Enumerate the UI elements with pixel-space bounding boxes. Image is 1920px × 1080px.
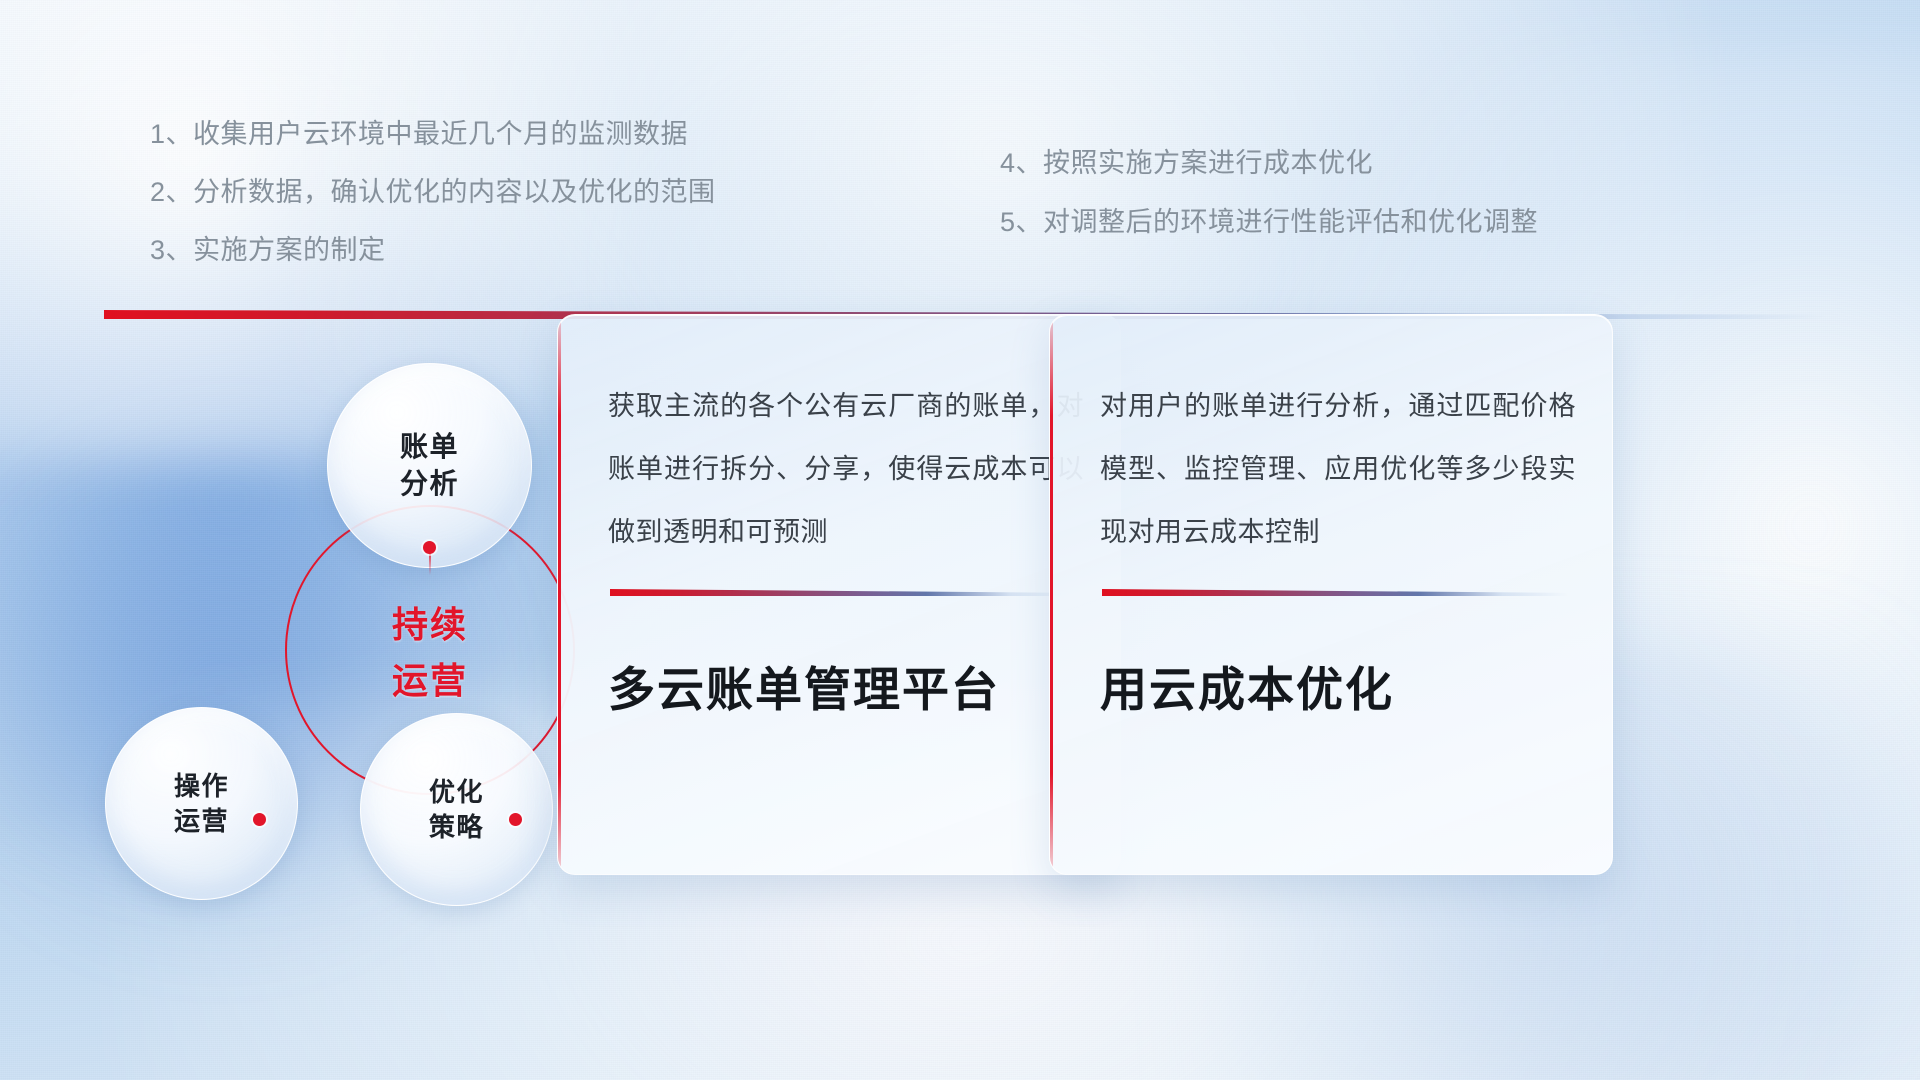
- bubble-label-line1: 优化: [429, 775, 484, 809]
- diagram-bubble-optimization-strategy[interactable]: 优化 策略: [360, 713, 553, 906]
- card-divider-wedge: [610, 589, 1076, 596]
- card-title: 多云账单管理平台: [608, 651, 1000, 720]
- diagram-center-label-line2: 运营: [392, 652, 468, 704]
- bubble-label-line2: 分析: [400, 466, 459, 503]
- card-divider: [610, 589, 1076, 596]
- bubble-label-line2: 运营: [174, 804, 229, 838]
- process-steps-list: 1、收集用户云环境中最近几个月的监测数据 2、分析数据，确认优化的内容以及优化的…: [0, 0, 1920, 250]
- diagram-center-label-line1: 持续: [392, 596, 468, 648]
- card-divider-wedge: [1102, 589, 1568, 596]
- card-description: 获取主流的各个公有云厂商的账单，对账单进行拆分、分享，使得云成本可以做到透明和可…: [608, 375, 1084, 564]
- bubble-label-line2: 策略: [429, 810, 484, 844]
- feature-card-cloud-cost-optimization[interactable]: 对用户的账单进行分析，通过匹配价格模型、监控管理、应用优化等多少段实现对用云成本…: [1049, 314, 1613, 875]
- bubble-label-line1: 账单: [400, 429, 459, 466]
- card-title: 用云成本优化: [1100, 651, 1394, 720]
- diagram-node-dot-bottomleft: [253, 813, 266, 826]
- diagram-bubble-operations[interactable]: 操作 运营: [105, 707, 298, 900]
- diagram-node-dot-bottomright: [509, 813, 522, 826]
- step-item-3: 3、实施方案的制定: [150, 228, 386, 267]
- diagram-connector-top: [429, 553, 431, 575]
- feature-card-multicloud-billing[interactable]: 获取主流的各个公有云厂商的账单，对账单进行拆分、分享，使得云成本可以做到透明和可…: [557, 314, 1121, 875]
- bubble-label-line1: 操作: [174, 769, 229, 803]
- step-item-2: 2、分析数据，确认优化的内容以及优化的范围: [150, 170, 716, 209]
- diagram-node-dot-top: [423, 541, 436, 554]
- diagram-bubble-bill-analysis[interactable]: 账单 分析: [327, 363, 532, 568]
- step-item-5: 5、对调整后的环境进行性能评估和优化调整: [1000, 200, 1538, 239]
- continuous-operations-diagram: 持续 运营 账单 分析 操作 运营 优化 策略: [95, 345, 615, 925]
- step-item-1: 1、收集用户云环境中最近几个月的监测数据: [150, 112, 688, 151]
- step-item-4: 4、按照实施方案进行成本优化: [1000, 141, 1373, 180]
- card-description: 对用户的账单进行分析，通过匹配价格模型、监控管理、应用优化等多少段实现对用云成本…: [1100, 375, 1576, 564]
- card-divider: [1102, 589, 1568, 596]
